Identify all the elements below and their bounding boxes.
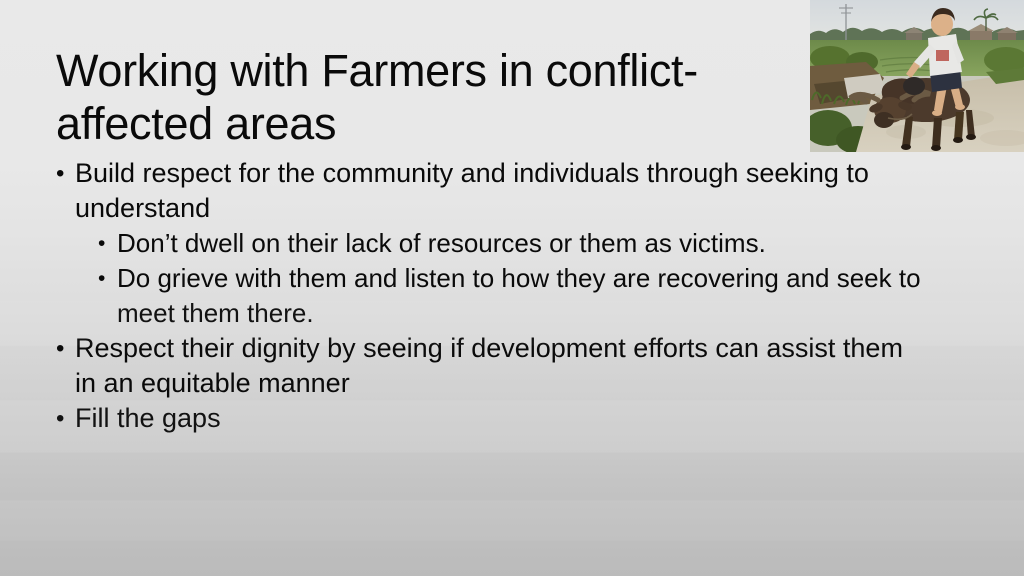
- bullet-marker: •: [56, 401, 75, 436]
- slide-canvas: Working with Farmers in conflict-affecte…: [0, 0, 1024, 576]
- list-item: • Don’t dwell on their lack of resources…: [98, 226, 986, 261]
- list-item: • Do grieve with them and listen to how …: [98, 261, 986, 331]
- bullet-marker: •: [56, 156, 75, 191]
- page-title: Working with Farmers in conflict-affecte…: [56, 44, 716, 150]
- list-item: • Build respect for the community and in…: [56, 156, 986, 226]
- list-item: • Respect their dignity by seeing if dev…: [56, 331, 986, 401]
- photo-illustration: [810, 0, 1024, 152]
- list-item-text: Do grieve with them and listen to how th…: [117, 261, 932, 331]
- list-item-text: Don’t dwell on their lack of resources o…: [117, 226, 932, 261]
- list-item-text: Fill the gaps: [75, 401, 910, 436]
- saddle-bag: [903, 77, 925, 95]
- bullet-marker: •: [98, 226, 117, 261]
- bullet-marker: •: [56, 331, 75, 366]
- slide-photo: [810, 0, 1024, 152]
- list-item: • Fill the gaps: [56, 401, 986, 436]
- bullet-list: • Build respect for the community and in…: [56, 156, 986, 436]
- list-item-text: Respect their dignity by seeing if devel…: [75, 331, 910, 401]
- bullet-marker: •: [98, 261, 117, 296]
- list-item-text: Build respect for the community and indi…: [75, 156, 910, 226]
